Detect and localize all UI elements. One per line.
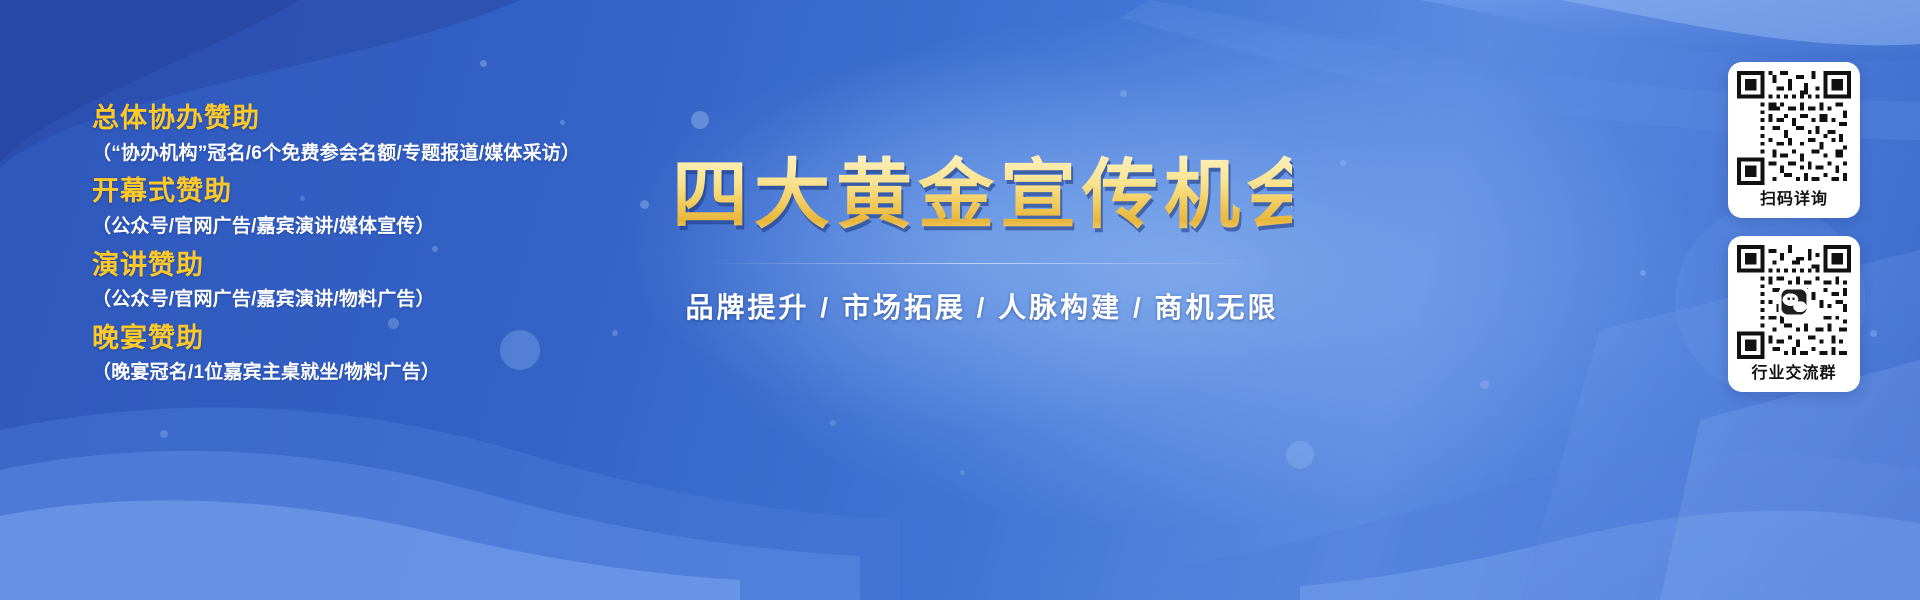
- qr-card-industry-group[interactable]: 行业交流群: [1728, 236, 1860, 392]
- promo-banner: 总体协办赞助 （“协办机构”冠名/6个免费参会名额/专题报道/媒体采访） 开幕式…: [0, 0, 1920, 600]
- qr-card-consult[interactable]: 扫码详询: [1728, 62, 1860, 218]
- page-title: 四大黄金宣传机会: [672, 155, 1292, 237]
- headline-block: 四大黄金宣传机会 品牌提升 / 市场拓展 / 人脉构建 / 商机无限: [672, 155, 1292, 326]
- sponsorship-detail: （晚宴冠名/1位嘉宾主桌就坐/物料广告）: [92, 358, 792, 389]
- qr-card-label: 行业交流群: [1737, 364, 1851, 384]
- headline-divider: [702, 263, 1262, 264]
- qr-code-wechat-icon: [1737, 245, 1851, 359]
- qr-code-column: 扫码详询: [1728, 62, 1860, 410]
- sponsorship-item-dinner: 晚宴赞助 （晚宴冠名/1位嘉宾主桌就坐/物料广告）: [92, 318, 792, 389]
- qr-code-icon: [1737, 71, 1851, 185]
- sponsorship-title: 总体协办赞助: [92, 98, 792, 139]
- headline-tagline: 品牌提升 / 市场拓展 / 人脉构建 / 商机无限: [672, 286, 1292, 326]
- qr-card-label: 扫码详询: [1737, 190, 1851, 210]
